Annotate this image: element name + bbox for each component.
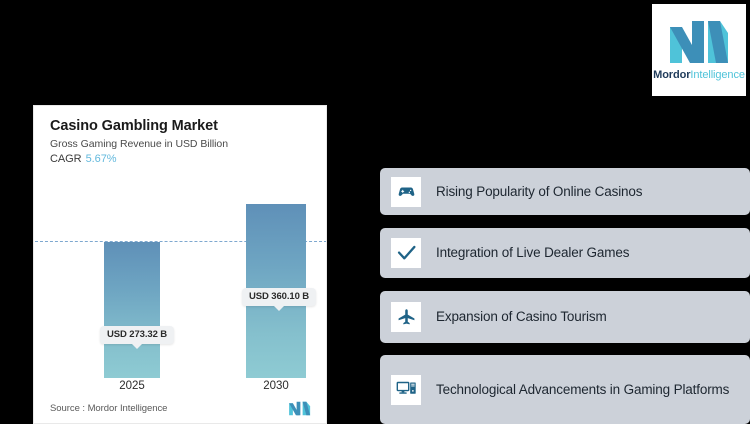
brand-wordmark: MordorIntelligence <box>653 69 745 81</box>
bar-2025 <box>104 242 160 378</box>
brand-logo: MordorIntelligence <box>652 4 746 96</box>
mordor-intelligence-small-mark <box>288 401 312 416</box>
feature-label: Expansion of Casino Tourism <box>436 308 607 325</box>
desktop-computer-icon <box>391 375 421 405</box>
bar-chart-plot: USD 273.32 B USD 360.10 B 2025 2030 <box>34 106 327 424</box>
brand-word-secondary: Intelligence <box>690 69 744 81</box>
screenshot-canvas: MordorIntelligence Casino Gambling Marke… <box>0 0 750 424</box>
feature-label: Technological Advancements in Gaming Pla… <box>436 381 729 398</box>
chart-source-row: Source : Mordor Intelligence <box>50 401 312 416</box>
feature-card-casino-tourism[interactable]: Expansion of Casino Tourism <box>380 291 750 343</box>
x-axis-tick-2025: 2025 <box>92 380 172 392</box>
feature-label: Integration of Live Dealer Games <box>436 244 629 261</box>
check-icon <box>391 238 421 268</box>
chart-card: Casino Gambling Market Gross Gaming Reve… <box>33 105 327 424</box>
x-axis-tick-2030: 2030 <box>236 380 316 392</box>
gamepad-icon <box>391 177 421 207</box>
source-text: Source : Mordor Intelligence <box>50 403 167 414</box>
bar-value-label-2025: USD 273.32 B <box>100 326 174 344</box>
feature-card-live-dealer-games[interactable]: Integration of Live Dealer Games <box>380 228 750 278</box>
feature-card-technological-advancements[interactable]: Technological Advancements in Gaming Pla… <box>380 355 750 424</box>
feature-label: Rising Popularity of Online Casinos <box>436 183 642 200</box>
brand-word-primary: Mordor <box>653 69 690 81</box>
mordor-intelligence-logo-mark <box>668 19 730 65</box>
airplane-icon <box>391 302 421 332</box>
bar-value-label-2030: USD 360.10 B <box>242 288 316 306</box>
feature-card-online-casinos[interactable]: Rising Popularity of Online Casinos <box>380 168 750 215</box>
